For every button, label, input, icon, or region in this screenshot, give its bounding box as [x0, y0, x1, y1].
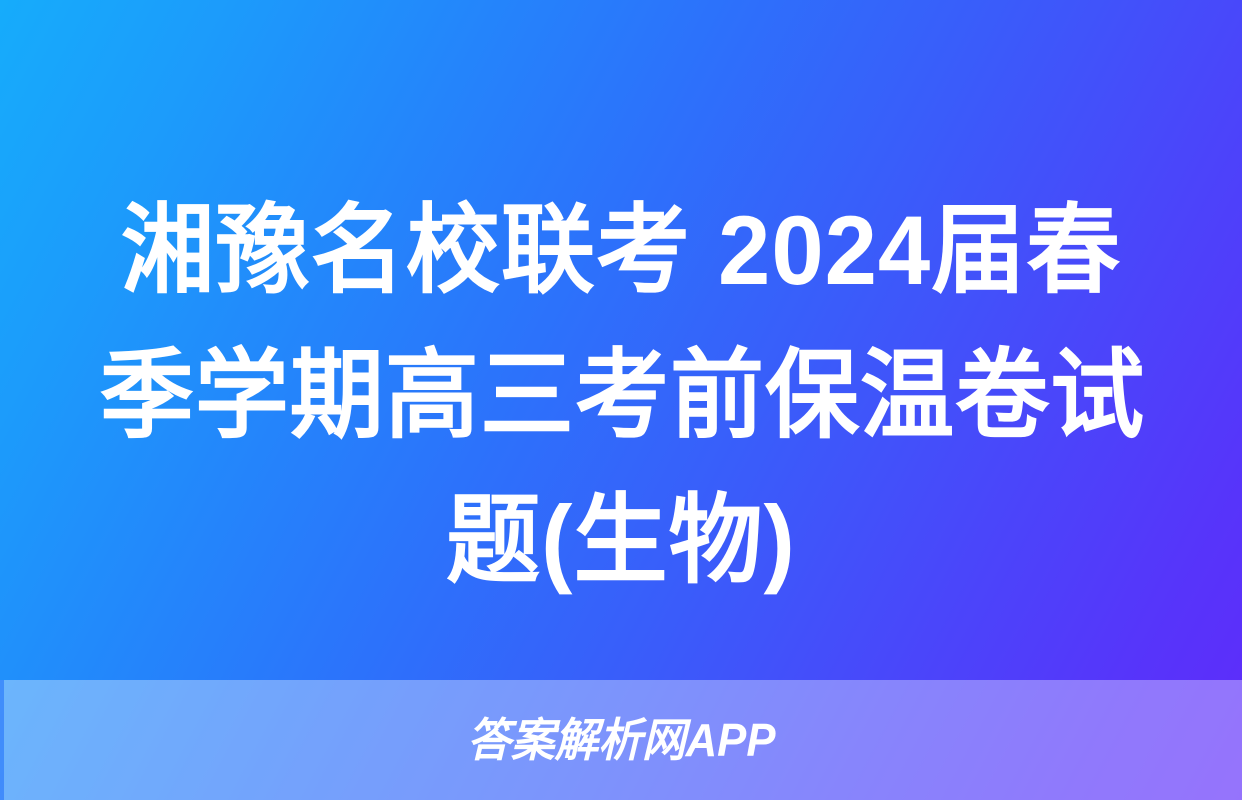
title-line-3: 题(生物) — [100, 468, 1143, 613]
exam-title-banner: 湘豫名校联考 2024届春 季学期高三考前保温卷试 题(生物) 答案解析网APP — [0, 0, 1242, 800]
watermark-text: 答案解析网APP — [467, 717, 775, 763]
title-line-2: 季学期高三考前保温卷试 — [100, 323, 1143, 468]
banner-title: 湘豫名校联考 2024届春 季学期高三考前保温卷试 题(生物) — [0, 178, 1242, 613]
title-line-1: 湘豫名校联考 2024届春 — [100, 178, 1143, 323]
footer-watermark-band: 答案解析网APP — [0, 680, 1242, 800]
watermark-container: 答案解析网APP — [0, 680, 1242, 800]
